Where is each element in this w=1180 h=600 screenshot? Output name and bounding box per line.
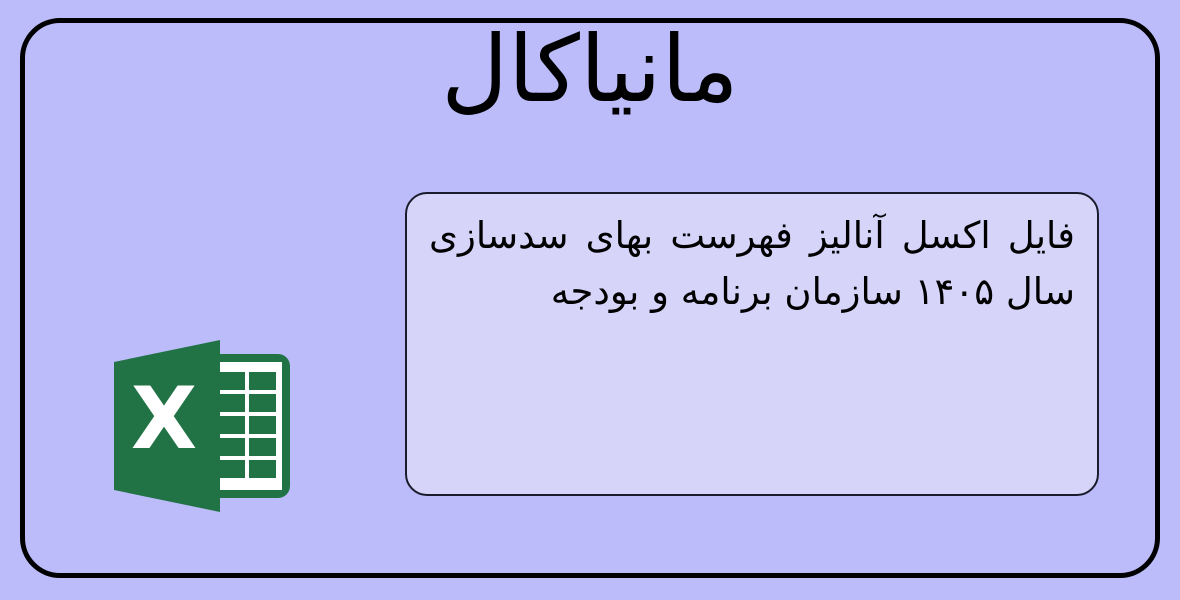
description-card: فایل اکسل آنالیز فهرست بهای سدسازی سال ۱…	[405, 192, 1099, 496]
excel-file-icon: X	[108, 338, 294, 514]
excel-icon-x-panel: X	[114, 340, 220, 512]
screenshot-canvas: مانیاکال X	[0, 0, 1180, 600]
description-line-2: سال ۱۴۰۵ سازمان برنامه و بودجه	[429, 264, 1075, 320]
excel-icon-letter: X	[131, 369, 197, 469]
page-title: مانیاکال	[0, 14, 1180, 126]
excel-icon-graphic: X	[108, 338, 294, 514]
description-line-1: فایل اکسل آنالیز فهرست بهای سدسازی	[429, 208, 1075, 264]
